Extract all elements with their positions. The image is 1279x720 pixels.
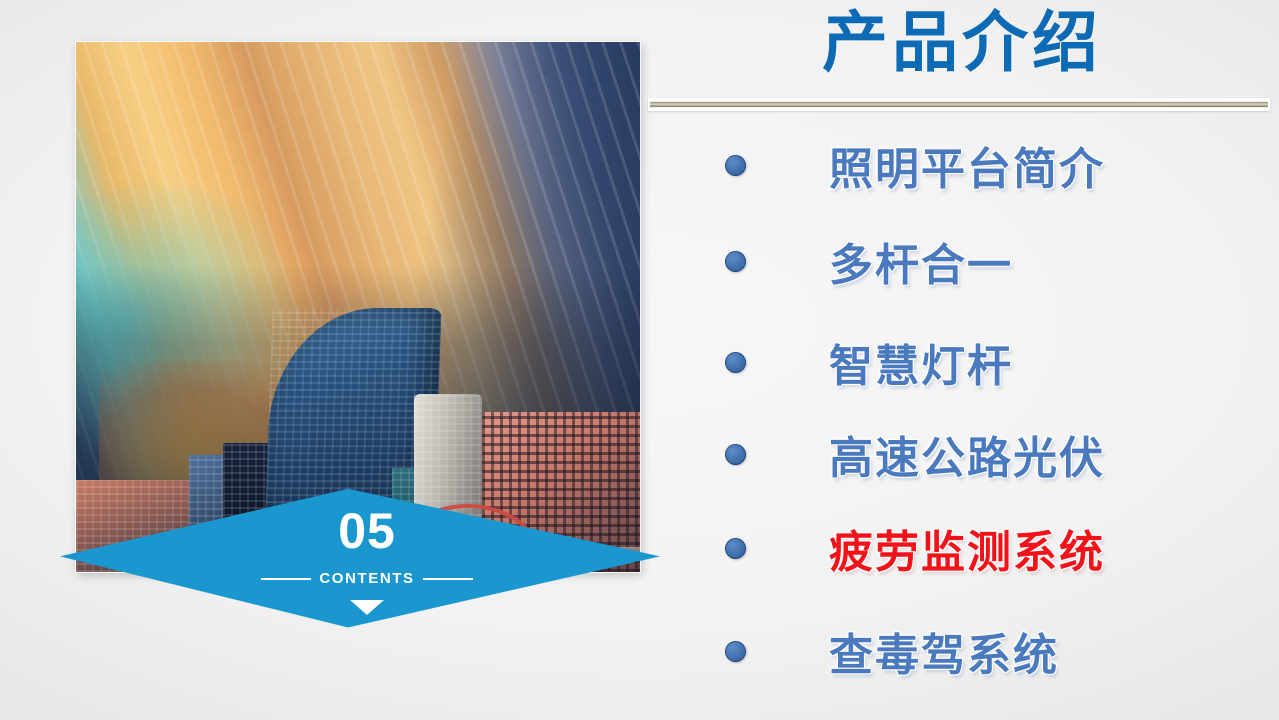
bullet-dot-icon xyxy=(725,538,746,559)
list-item[interactable]: 智慧灯杆 xyxy=(652,327,1272,397)
list-item-label: 照明平台简介 xyxy=(829,133,1105,197)
list-item-label-highlight: 疲劳监测系统 xyxy=(829,516,1105,580)
list-item[interactable]: 照明平台简介 xyxy=(652,130,1272,200)
title-divider xyxy=(648,98,1270,111)
photo-city-mass xyxy=(76,265,640,572)
contents-label: CONTENTS xyxy=(319,570,414,587)
list-item-label: 高速公路光伏 xyxy=(829,422,1105,486)
contents-rule-left xyxy=(261,578,311,580)
chevron-down-icon xyxy=(350,600,384,615)
list-item[interactable]: 疲劳监测系统 xyxy=(652,513,1272,583)
list-item[interactable]: 多杆合一 xyxy=(652,226,1272,296)
contents-label-row: CONTENTS xyxy=(60,570,660,587)
list-item[interactable]: 查毒驾系统 xyxy=(652,616,1272,686)
photo-building-slim xyxy=(189,455,223,566)
list-item-label: 智慧灯杆 xyxy=(829,330,1013,394)
bullet-dot-icon xyxy=(725,352,746,373)
title-divider-bar xyxy=(650,101,1268,108)
list-item-label: 多杆合一 xyxy=(829,229,1013,293)
page-title: 产品介绍 xyxy=(652,6,1272,80)
bullet-dot-icon xyxy=(725,444,746,465)
photo-building-left xyxy=(76,480,200,572)
bullet-dot-icon xyxy=(725,251,746,272)
list-item-label: 查毒驾系统 xyxy=(829,619,1059,683)
bullet-dot-icon xyxy=(725,155,746,176)
bullet-dot-icon xyxy=(725,641,746,662)
city-skyline-photo xyxy=(76,42,640,572)
contents-rule-right xyxy=(423,578,473,580)
list-item[interactable]: 高速公路光伏 xyxy=(652,419,1272,489)
